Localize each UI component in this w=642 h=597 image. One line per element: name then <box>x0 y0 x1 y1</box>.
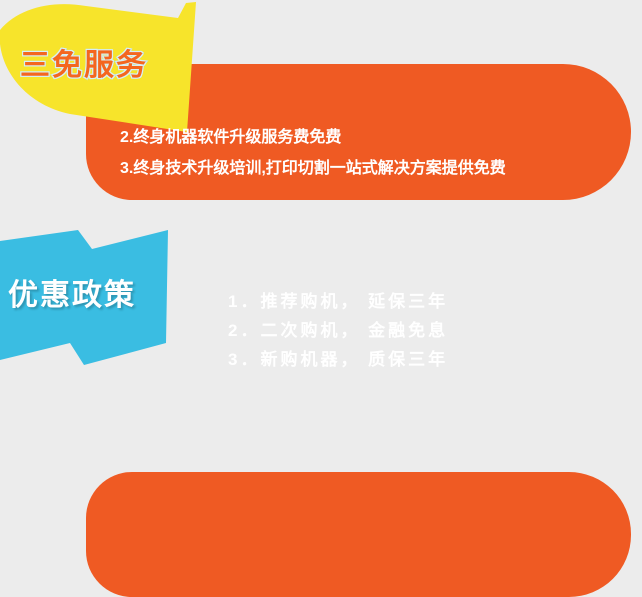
section-title-three-free-service: 三免服务 <box>20 40 148 84</box>
bottom-line-3: 3．新购机器， 质保三年 <box>228 345 448 374</box>
bottom-line-1: 1．推荐购机， 延保三年 <box>228 287 448 316</box>
bottom-card-text-block: 1．推荐购机， 延保三年 2．二次购机， 金融免息 3．新购机器， 质保三年 <box>228 287 448 374</box>
bottom-line-2: 2．二次购机， 金融免息 <box>228 316 448 345</box>
top-card-text-block: 2.终身机器软件升级服务费免费 3.终身技术升级培训,打印切割一站式解决方案提供… <box>120 122 506 184</box>
bottom-orange-card <box>86 472 631 597</box>
section-title-preferential-policy: 优惠政策 <box>8 270 136 314</box>
top-line-1: 2.终身机器软件升级服务费免费 <box>120 122 506 153</box>
section-three-free-service: 三免服务 2.终身机器软件升级服务费免费 3.终身技术升级培训,打印切割一站式解… <box>0 0 642 207</box>
top-line-2: 3.终身技术升级培训,打印切割一站式解决方案提供免费 <box>120 153 506 184</box>
poster-canvas: 三免服务 2.终身机器软件升级服务费免费 3.终身技术升级培训,打印切割一站式解… <box>0 0 642 415</box>
